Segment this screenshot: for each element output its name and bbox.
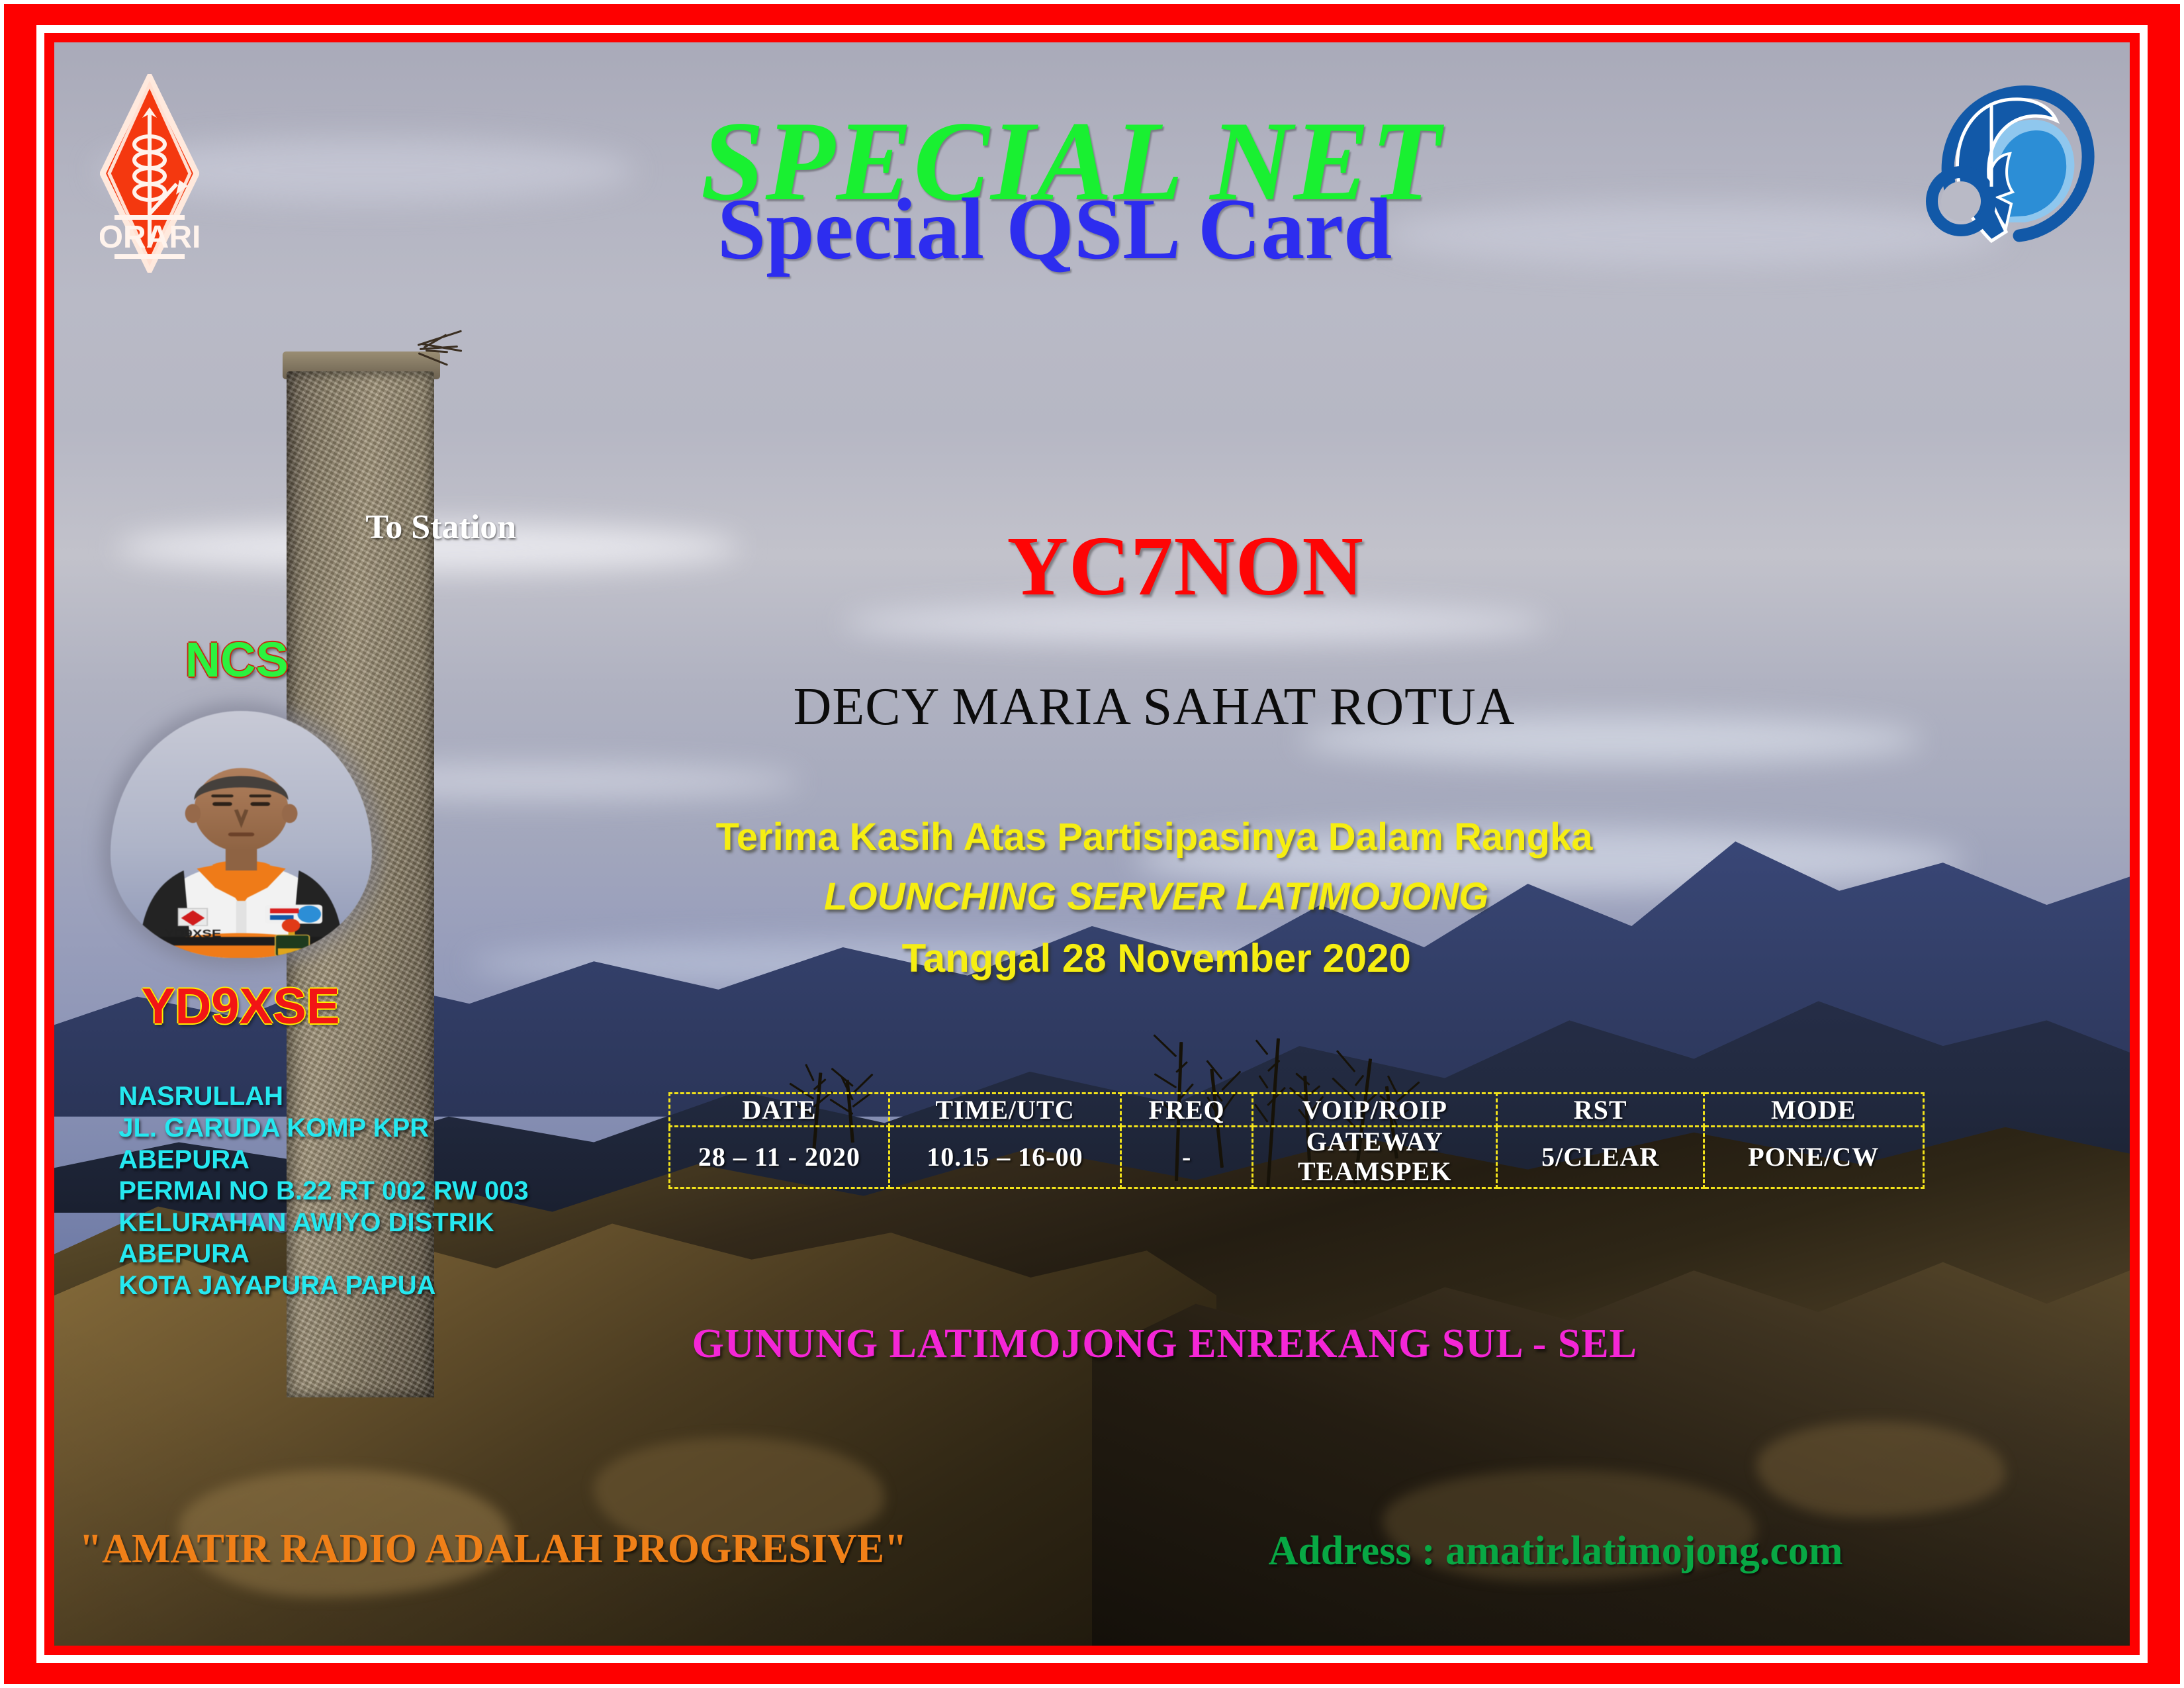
location-label: GUNUNG LATIMOJONG ENREKANG SUL - SEL	[692, 1323, 1637, 1364]
qsl-card: ORARI	[0, 0, 2184, 1688]
table-header-date: DATE	[670, 1094, 889, 1127]
table-cell-mode: PONE/CW	[1704, 1127, 1923, 1188]
voip-headphone-logo	[1920, 74, 2099, 246]
address-line: PERMAI NO B.22 RT 002 RW 003	[118, 1176, 658, 1207]
ncs-label: NCS	[185, 635, 289, 684]
table-cell-voip: GATEWAYTEAMSPEK	[1253, 1127, 1497, 1188]
address-line: JL. GARUDA KOMP KPR	[118, 1113, 658, 1145]
orari-diamond-logo: ORARI	[100, 74, 199, 273]
address-line: KOTA JAYAPURA PAPUA	[118, 1270, 658, 1302]
table-cell-rst: 5/CLEAR	[1497, 1127, 1704, 1188]
background-photograph: ORARI	[54, 42, 2130, 1646]
to-station-callsign: YC7NON	[1007, 524, 1363, 608]
svg-text:YD9XSE: YD9XSE	[164, 928, 221, 939]
table-row: 28 – 11 - 2020 10.15 – 16-00 - GATEWAYTE…	[670, 1127, 1923, 1188]
to-station-operator-name: DECY MARIA SAHAT ROTUA	[794, 680, 1516, 733]
table-header-freq: FREQ	[1121, 1094, 1253, 1127]
table-cell-time: 10.15 – 16-00	[889, 1127, 1120, 1188]
to-station-label: To Station	[365, 510, 516, 545]
address-line: KELURAHAN AWIYO DISTRIK	[118, 1207, 658, 1239]
orari-logo-text: ORARI	[100, 220, 199, 255]
ncs-callsign: YD9XSE	[142, 982, 340, 1032]
table-header-time: TIME/UTC	[889, 1094, 1120, 1127]
operator-portrait: YD9XSE	[111, 711, 372, 958]
thanks-line-3-date: Tanggal 28 November 2020	[902, 939, 1411, 978]
thanks-line-1: Terima Kasih Atas Partisipasinya Dalam R…	[716, 818, 1593, 857]
table-header-rst: RST	[1497, 1094, 1704, 1127]
table-header-row: DATE TIME/UTC FREQ VOIP/ROIP RST MODE	[670, 1094, 1923, 1127]
table-cell-freq: -	[1121, 1127, 1253, 1188]
footer-address: Address : amatir.latimojong.com	[1269, 1530, 1843, 1571]
thanks-line-2-event: LOUNCHING SERVER LATIMOJONG	[824, 878, 1488, 916]
table-header-mode: MODE	[1704, 1094, 1923, 1127]
address-line: NASRULLAH	[118, 1081, 658, 1113]
qso-details-table: DATE TIME/UTC FREQ VOIP/ROIP RST MODE 28…	[668, 1092, 1924, 1189]
card-content: ORARI	[54, 42, 2130, 1646]
address-line: ABEPURA	[118, 1239, 658, 1270]
footer-motto: "AMATIR RADIO ADALAH PROGRESIVE"	[79, 1528, 907, 1570]
page-subtitle-special-qsl-card: Special QSL Card	[717, 185, 1392, 273]
address-line: ABEPURA	[118, 1145, 658, 1176]
table-header-voip: VOIP/ROIP	[1253, 1094, 1497, 1127]
table-cell-date: 28 – 11 - 2020	[670, 1127, 889, 1188]
ncs-address-block: NASRULLAH JL. GARUDA KOMP KPR ABEPURA PE…	[118, 1081, 658, 1301]
